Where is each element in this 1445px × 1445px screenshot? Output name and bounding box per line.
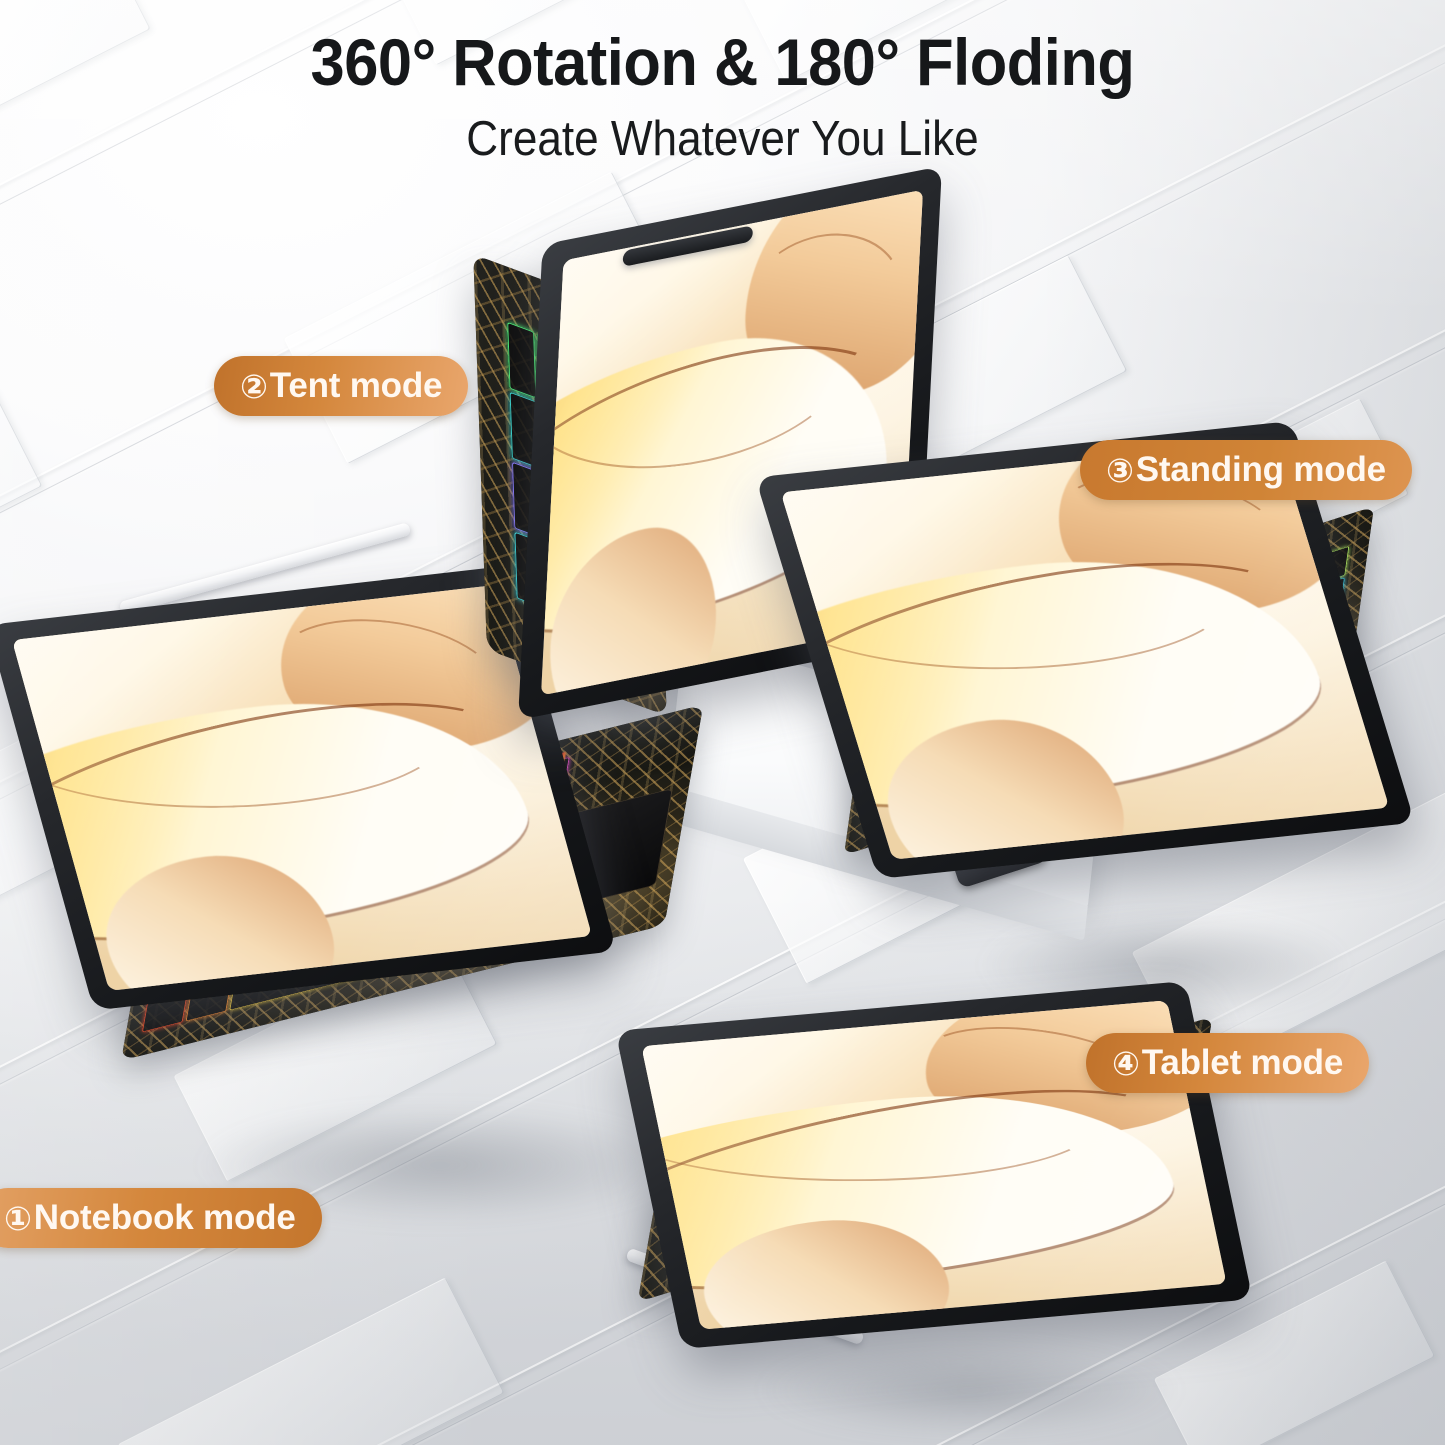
badge-label-standing: Standing mode	[1136, 450, 1386, 490]
badge-number-4: ④	[1112, 1047, 1140, 1080]
badge-label-tent: Tent mode	[270, 366, 443, 406]
product-feature-image: 360° Rotation & 180° Floding Create What…	[0, 0, 1445, 1445]
standing-screen[interactable]	[781, 440, 1390, 859]
badge-number-3: ③	[1106, 454, 1134, 487]
badge-label-tablet: Tablet mode	[1142, 1043, 1343, 1083]
badge-tent-mode[interactable]: ② Tent mode	[214, 356, 468, 416]
badge-number-1: ①	[4, 1202, 32, 1235]
badge-label-notebook: Notebook mode	[34, 1198, 296, 1238]
page-title: 360° Rotation & 180° Floding	[51, 28, 1395, 97]
page-subtitle: Create Whatever You Like	[72, 111, 1373, 167]
standing-wallpaper	[781, 440, 1390, 859]
badge-number-2: ②	[240, 370, 268, 403]
badge-tablet-mode[interactable]: ④ Tablet mode	[1086, 1033, 1369, 1093]
device-standing-mode	[810, 420, 1430, 980]
heading-block: 360° Rotation & 180° Floding Create What…	[0, 28, 1445, 167]
badge-standing-mode[interactable]: ③ Standing mode	[1080, 440, 1412, 500]
badge-notebook-mode[interactable]: ① Notebook mode	[0, 1188, 322, 1248]
